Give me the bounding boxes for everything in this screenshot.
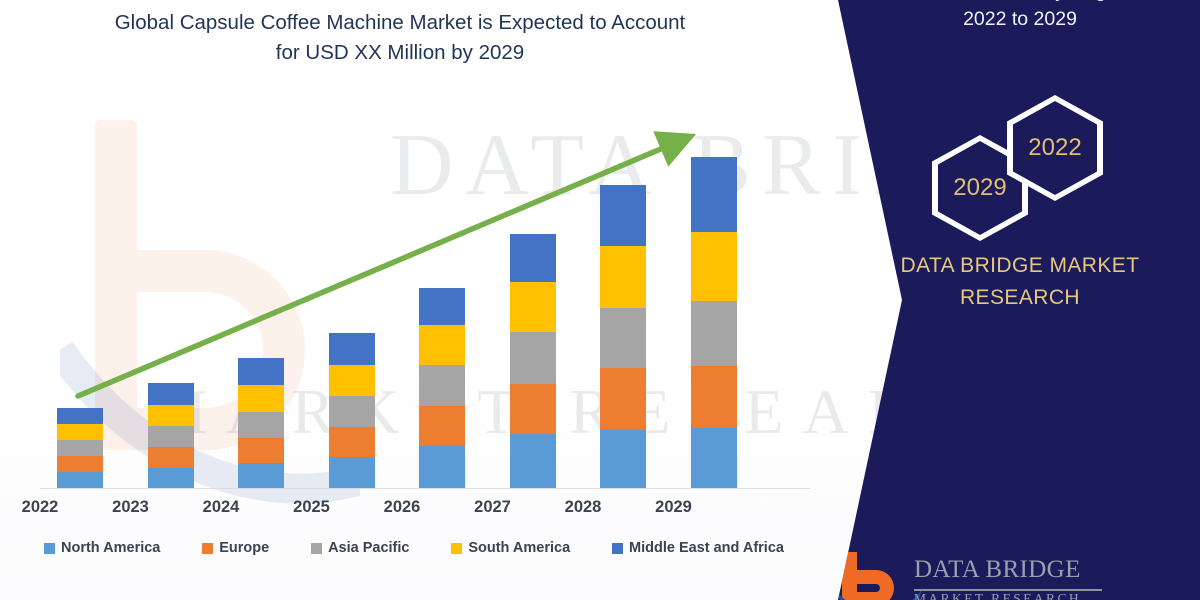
legend-item[interactable]: North America xyxy=(44,540,160,556)
bar-segment[interactable] xyxy=(238,438,284,463)
bar-segment[interactable] xyxy=(148,468,194,488)
brand-name-line-2: RESEARCH xyxy=(870,282,1170,314)
x-axis-label: 2023 xyxy=(86,498,176,517)
bar-segment[interactable] xyxy=(419,406,465,446)
logo-text-top: DATA BRIDGE xyxy=(914,556,1081,584)
stacked-bar[interactable] xyxy=(419,288,465,488)
legend-label: South America xyxy=(468,540,570,556)
bar-segment[interactable] xyxy=(329,333,375,365)
logo-text-bottom: MARKET RESEARCH xyxy=(914,591,1081,600)
legend-item[interactable]: Asia Pacific xyxy=(311,540,409,556)
bar-segment[interactable] xyxy=(57,472,103,488)
stacked-bar[interactable] xyxy=(691,157,737,488)
legend-swatch xyxy=(311,543,322,554)
bar-segment[interactable] xyxy=(329,457,375,488)
hexagon-end-year-label: 2029 xyxy=(953,174,1006,202)
legend-label: Middle East and Africa xyxy=(629,540,784,556)
brand-name-line-1: DATA BRIDGE MARKET xyxy=(870,250,1170,282)
bar-segment[interactable] xyxy=(329,396,375,427)
legend-item[interactable]: Europe xyxy=(202,540,269,556)
brand-panel-title-line-1: Machine Market, By Regions, xyxy=(850,0,1190,6)
bar-segment[interactable] xyxy=(419,325,465,365)
stacked-bar[interactable] xyxy=(148,383,194,488)
x-axis-label: 2022 xyxy=(0,498,85,517)
brand-name: DATA BRIDGE MARKET RESEARCH xyxy=(870,250,1170,313)
bar-segment[interactable] xyxy=(57,440,103,456)
bar-segment[interactable] xyxy=(57,424,103,440)
x-axis-label: 2027 xyxy=(448,498,538,517)
hexagon-start-year: 2022 xyxy=(1007,95,1103,201)
brand-panel-title: Machine Market, By Regions, 2022 to 2029 xyxy=(850,0,1190,33)
infographic-canvas: DATA BRIDGE MARKET RESEARCH Global Capsu… xyxy=(0,0,1200,600)
bar-segment[interactable] xyxy=(691,301,737,366)
legend-swatch xyxy=(612,543,623,554)
x-axis-label: 2025 xyxy=(267,498,357,517)
bar-segment[interactable] xyxy=(691,428,737,488)
legend-label: North America xyxy=(61,540,160,556)
chart-legend: North AmericaEuropeAsia PacificSouth Ame… xyxy=(44,540,784,556)
bar-segment[interactable] xyxy=(148,447,194,468)
legend-item[interactable]: Middle East and Africa xyxy=(612,540,784,556)
bar-segment[interactable] xyxy=(329,365,375,396)
bar-segment[interactable] xyxy=(419,288,465,325)
stacked-bar[interactable] xyxy=(238,358,284,488)
legend-swatch xyxy=(451,543,462,554)
page-title: Global Capsule Coffee Machine Market is … xyxy=(30,8,770,67)
bar-segment[interactable] xyxy=(600,368,646,430)
logo-swoosh-icon xyxy=(836,584,922,600)
hexagon-start-year-label: 2022 xyxy=(1028,134,1081,162)
bar-segment[interactable] xyxy=(600,246,646,308)
page-title-line-1: Global Capsule Coffee Machine Market is … xyxy=(30,8,770,38)
bar-segment[interactable] xyxy=(148,426,194,447)
bar-segment[interactable] xyxy=(510,434,556,488)
bar-segment[interactable] xyxy=(329,427,375,457)
legend-swatch xyxy=(202,543,213,554)
x-axis-label: 2026 xyxy=(357,498,447,517)
bar-segment[interactable] xyxy=(419,446,465,488)
chart-panel: DATA BRIDGE MARKET RESEARCH Global Capsu… xyxy=(0,0,900,600)
bar-segment[interactable] xyxy=(510,332,556,384)
bar-segment[interactable] xyxy=(691,232,737,301)
bar-segment[interactable] xyxy=(510,384,556,434)
bar-segment[interactable] xyxy=(148,405,194,426)
bar-segment[interactable] xyxy=(238,463,284,488)
bar-segment[interactable] xyxy=(691,157,737,232)
bar-segment[interactable] xyxy=(148,383,194,405)
bar-segment[interactable] xyxy=(510,234,556,282)
bar-segment[interactable] xyxy=(57,456,103,472)
bar-segment[interactable] xyxy=(238,358,284,385)
stacked-bar[interactable] xyxy=(57,408,103,488)
legend-label: Europe xyxy=(219,540,269,556)
bar-segment[interactable] xyxy=(238,385,284,412)
bar-segment[interactable] xyxy=(510,282,556,332)
company-logo: DATA BRIDGE MARKET RESEARCH xyxy=(842,548,1172,600)
bar-segment[interactable] xyxy=(691,366,737,428)
x-axis-label: 2024 xyxy=(176,498,266,517)
x-axis-label: 2029 xyxy=(629,498,719,517)
legend-label: Asia Pacific xyxy=(328,540,409,556)
bar-segment[interactable] xyxy=(419,365,465,406)
x-axis-label: 2028 xyxy=(538,498,628,517)
x-axis-line xyxy=(40,488,810,489)
bar-segment[interactable] xyxy=(57,408,103,424)
plot-area xyxy=(40,108,800,488)
page-title-line-2: for USD XX Million by 2029 xyxy=(30,38,770,68)
stacked-bar[interactable] xyxy=(600,185,646,488)
legend-item[interactable]: South America xyxy=(451,540,570,556)
brand-panel-title-line-2: 2022 to 2029 xyxy=(850,6,1190,34)
stacked-bar[interactable] xyxy=(329,333,375,488)
bar-segment[interactable] xyxy=(238,412,284,438)
bar-segment[interactable] xyxy=(600,185,646,246)
stacked-bar[interactable] xyxy=(510,234,556,488)
legend-swatch xyxy=(44,543,55,554)
bar-segment[interactable] xyxy=(600,308,646,368)
bar-segment[interactable] xyxy=(600,430,646,488)
